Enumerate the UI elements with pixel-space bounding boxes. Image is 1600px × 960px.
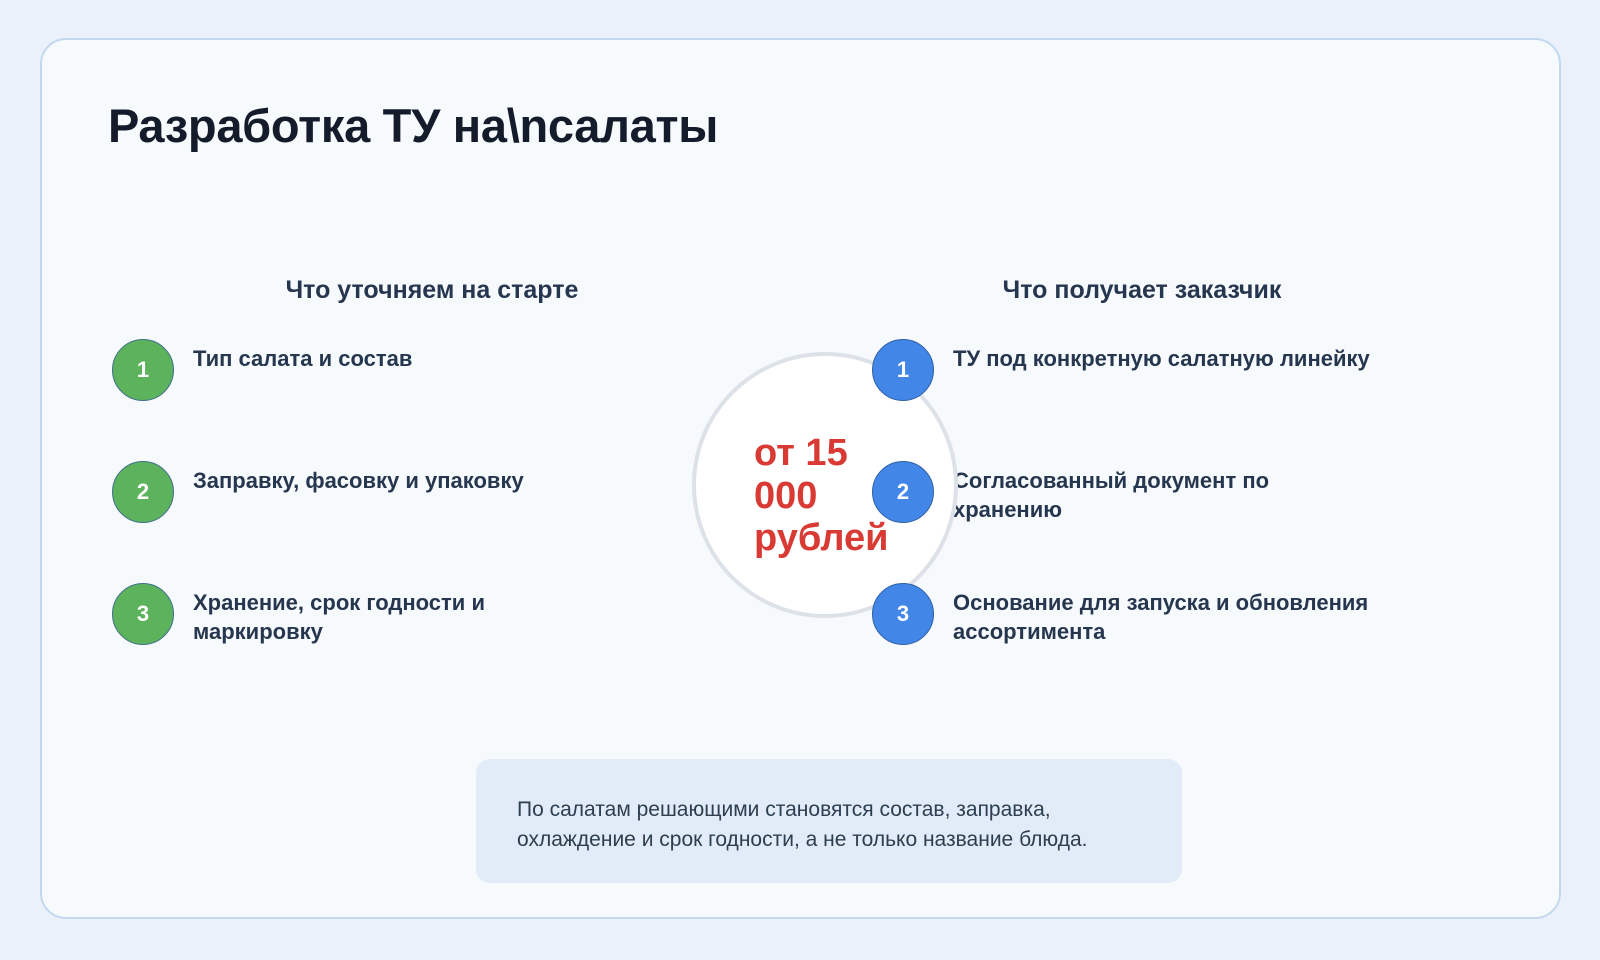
list-item-label: Заправку, фасовку и упаковку: [193, 466, 524, 495]
column-heading-right: Что получает заказчик: [872, 276, 1492, 305]
list-item-label: Хранение, срок годности и маркировку: [193, 588, 613, 646]
note-box: По салатам решающими становятся состав, …: [476, 759, 1182, 883]
column-heading-left: Что уточняем на старте: [112, 276, 712, 305]
slide-card: Разработка ТУ на\nсалаты Что уточняем на…: [40, 38, 1561, 919]
bullet-number-icon: 2: [872, 461, 934, 523]
list-item[interactable]: 3 Основание для запуска и обновления асс…: [872, 575, 1492, 697]
column-deliverables: Что получает заказчик 1 ТУ под конкретну…: [872, 276, 1492, 697]
bullet-number-icon: 1: [872, 339, 934, 401]
bullet-number-icon: 3: [112, 583, 174, 645]
list-item[interactable]: 3 Хранение, срок годности и маркировку: [112, 575, 712, 697]
page-title: Разработка ТУ на\nсалаты: [108, 98, 718, 153]
list-item-label: Тип салата и состав: [193, 344, 412, 373]
column-start-questions: Что уточняем на старте 1 Тип салата и со…: [112, 276, 712, 697]
list-item-label: ТУ под конкретную салатную линейку: [953, 344, 1370, 373]
bullet-number-icon: 2: [112, 461, 174, 523]
list-item[interactable]: 2 Заправку, фасовку и упаковку: [112, 453, 712, 575]
list-item[interactable]: 2 Согласованный документ по хранению: [872, 453, 1492, 575]
note-text: По салатам решающими становятся состав, …: [517, 795, 1142, 855]
list-item-label: Согласованный документ по хранению: [953, 466, 1373, 524]
list-item[interactable]: 1 ТУ под конкретную салатную линейку: [872, 331, 1492, 453]
price-badge-label: от 15 000 рублей: [754, 432, 889, 560]
bullet-number-icon: 1: [112, 339, 174, 401]
list-item-label: Основание для запуска и обновления ассор…: [953, 588, 1373, 646]
bullet-number-icon: 3: [872, 583, 934, 645]
list-item[interactable]: 1 Тип салата и состав: [112, 331, 712, 453]
